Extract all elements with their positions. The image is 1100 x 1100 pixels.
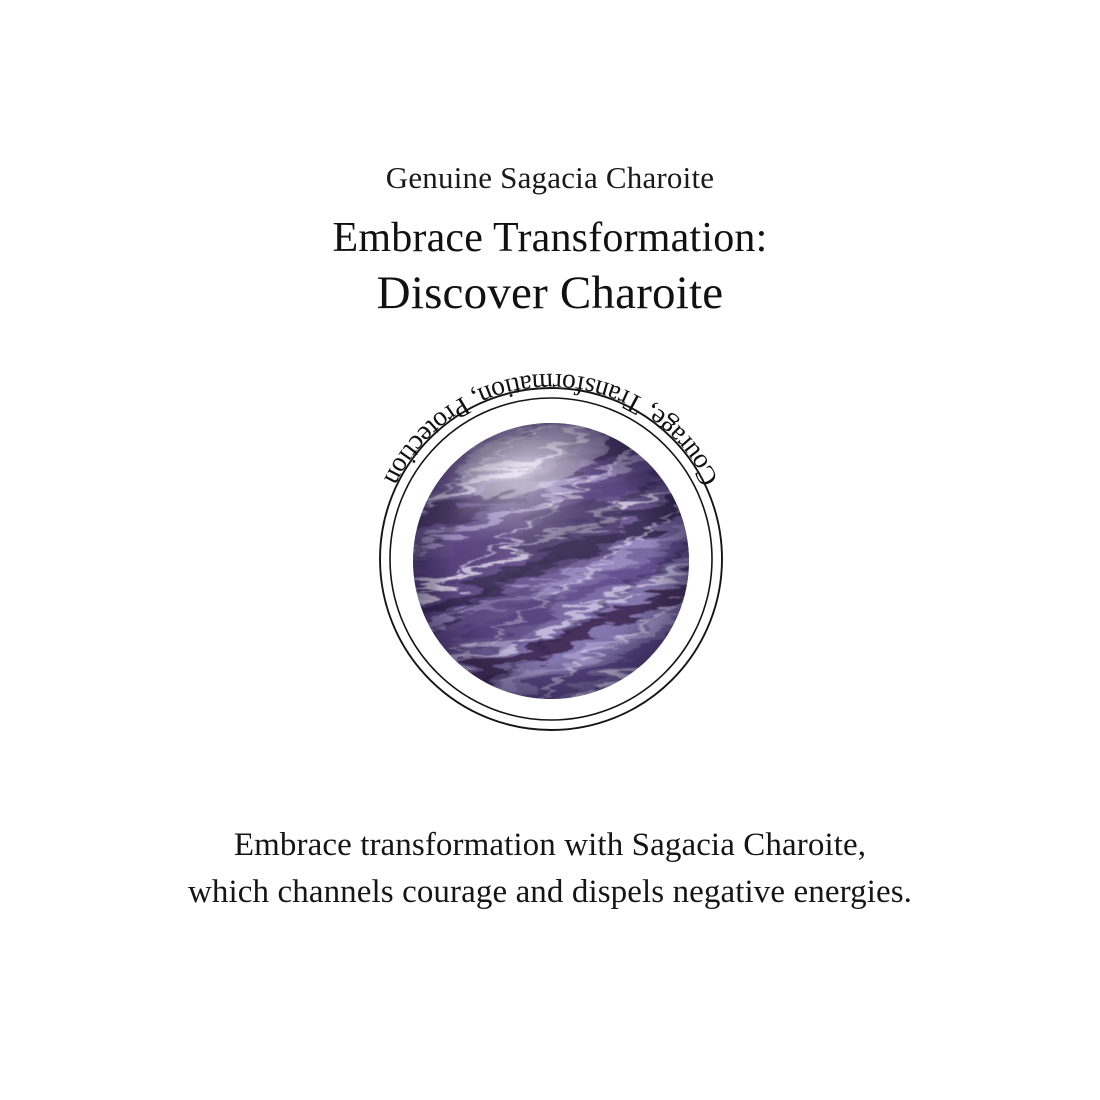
product-card-page: Genuine Sagacia Charoite Embrace Transfo…	[0, 0, 1100, 1100]
caption-line-2: which channels courage and dispels negat…	[0, 869, 1100, 916]
title-line-1: Embrace Transformation:	[0, 212, 1100, 264]
header-block: Genuine Sagacia Charoite Embrace Transfo…	[0, 158, 1100, 322]
page-title: Embrace Transformation: Discover Charoit…	[0, 212, 1100, 322]
caption-line-1: Embrace transformation with Sagacia Char…	[0, 822, 1100, 869]
caption-block: Embrace transformation with Sagacia Char…	[0, 822, 1100, 916]
seal-arc-text: Courage, Transformation, Protection	[378, 368, 723, 492]
seal-arc-textpath: Courage, Transformation, Protection	[378, 368, 723, 492]
eyebrow-text: Genuine Sagacia Charoite	[0, 158, 1100, 198]
title-line-2: Discover Charoite	[0, 264, 1100, 322]
seal-rings-and-arc-text: Courage, Transformation, Protection	[341, 349, 761, 769]
seal-inner-ring	[390, 398, 712, 720]
